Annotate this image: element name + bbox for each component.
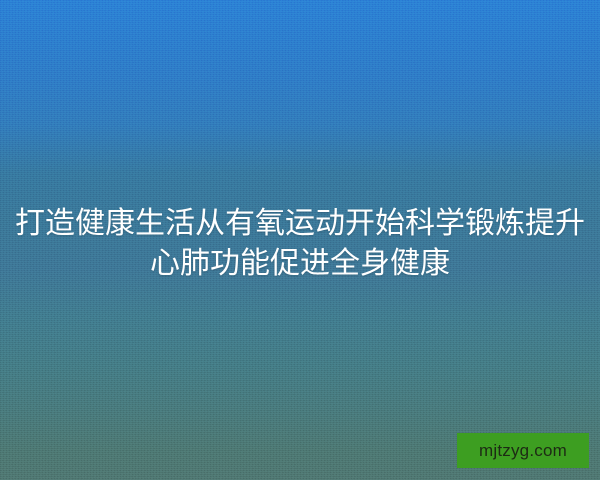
headline-text: 打造健康生活从有氧运动开始科学锻炼提升心肺功能促进全身健康 <box>0 204 600 284</box>
watermark-badge[interactable]: mjtzyg.com <box>457 433 589 468</box>
promo-banner: 打造健康生活从有氧运动开始科学锻炼提升心肺功能促进全身健康 mjtzyg.com <box>0 0 600 480</box>
watermark-label: mjtzyg.com <box>479 442 567 459</box>
